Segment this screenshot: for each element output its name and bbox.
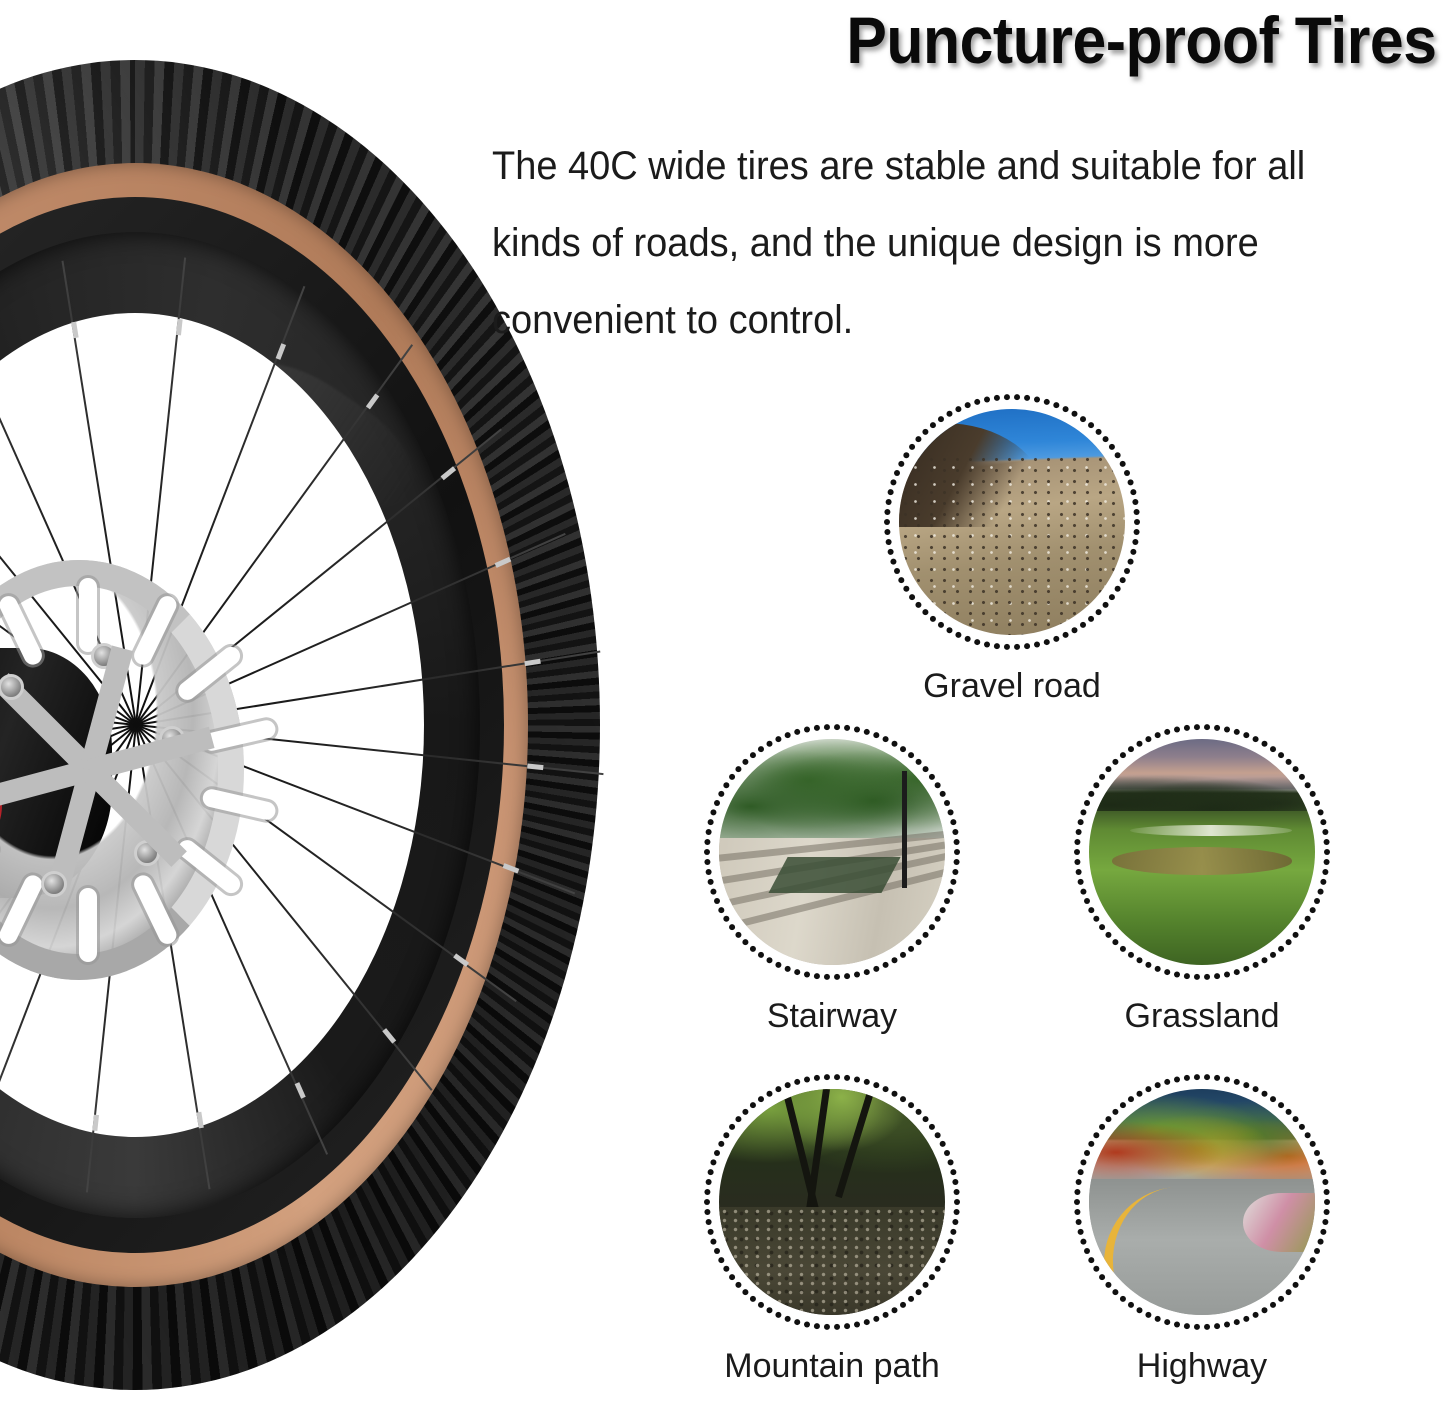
ring-dot — [735, 1282, 741, 1288]
ring-dot — [864, 729, 870, 735]
ring-dot — [984, 641, 990, 647]
ring-dot — [1324, 1209, 1330, 1215]
terrain-callout-gravel-road: Gravel road — [883, 393, 1141, 706]
ring-dot — [1044, 639, 1050, 645]
ring-dot — [947, 627, 953, 633]
ring-dot — [1072, 627, 1078, 633]
ring-dot — [767, 957, 773, 963]
spoke-nipple — [92, 1115, 99, 1131]
ring-dot — [1324, 849, 1330, 855]
wheel-hub-assembly — [0, 560, 368, 980]
ring-dot — [1155, 1082, 1161, 1088]
ring-dot — [944, 800, 950, 806]
ring-dot — [1174, 1077, 1180, 1083]
ring-dot — [1214, 725, 1220, 731]
ring-dot — [1093, 1266, 1099, 1272]
rotor-vent-slot — [79, 888, 97, 962]
ring-dot — [1088, 791, 1094, 797]
ring-dot — [1137, 1307, 1143, 1313]
ring-dot — [1155, 966, 1161, 972]
ring-dot — [1293, 1116, 1299, 1122]
ring-dot — [1124, 568, 1130, 574]
ring-dot — [909, 594, 915, 600]
ring-dot — [1088, 616, 1094, 622]
ring-dot — [1099, 924, 1105, 930]
ring-dot — [1184, 1075, 1190, 1081]
ring-dot — [704, 1189, 710, 1195]
ring-dot — [1322, 869, 1328, 875]
ring-dot — [1305, 1266, 1311, 1272]
ring-dot — [954, 1209, 960, 1215]
ring-dot — [706, 829, 712, 835]
ring-dot — [708, 1229, 714, 1235]
ring-dot — [1164, 729, 1170, 735]
ring-dot — [824, 1074, 830, 1080]
ring-dot — [1293, 932, 1299, 938]
ring-dot — [1088, 1257, 1094, 1263]
ring-dot — [1310, 791, 1316, 797]
ring-dot — [1093, 1132, 1099, 1138]
spoke-nipple — [295, 1082, 306, 1099]
ring-dot — [704, 1209, 710, 1215]
ring-dot — [844, 1323, 850, 1329]
ring-dot — [892, 1307, 898, 1313]
ring-dot — [1184, 973, 1190, 979]
ring-dot — [1004, 644, 1010, 650]
ring-dot — [1204, 724, 1210, 730]
ring-dot — [1145, 962, 1151, 968]
ring-dot — [1078, 879, 1084, 885]
ring-dot — [1214, 973, 1220, 979]
ring-dot — [1310, 1257, 1316, 1263]
ring-dot — [886, 539, 892, 545]
ring-dot — [714, 1248, 720, 1254]
ring-dot — [935, 1266, 941, 1272]
ring-dot — [930, 616, 936, 622]
ring-dot — [723, 1132, 729, 1138]
ring-dot — [704, 859, 710, 865]
ring-dot — [1074, 859, 1080, 865]
ring-dot — [884, 509, 890, 515]
ring-dot — [1109, 594, 1115, 600]
ring-dot — [1063, 406, 1069, 412]
rotor-bolt — [0, 674, 24, 700]
ring-dot — [718, 1141, 724, 1147]
ring-dot — [1130, 549, 1136, 555]
ring-dot — [1270, 1302, 1276, 1308]
ring-dot — [706, 869, 712, 875]
ring-dot — [915, 602, 921, 608]
ring-dot — [706, 1219, 712, 1225]
ring-dot — [1262, 957, 1268, 963]
rotor-vent-slot — [79, 578, 97, 652]
ring-dot — [742, 1289, 748, 1295]
ring-dot — [930, 422, 936, 428]
ring-dot — [1234, 1319, 1240, 1325]
ring-dot — [898, 461, 904, 467]
ring-dot — [994, 395, 1000, 401]
ring-dot — [794, 1319, 800, 1325]
ring-dot — [952, 869, 958, 875]
ring-dot — [824, 1324, 830, 1330]
ring-dot — [785, 732, 791, 738]
ring-dot — [950, 879, 956, 885]
ring-dot — [952, 829, 958, 835]
ring-dot — [900, 952, 906, 958]
ring-dot — [706, 1179, 712, 1185]
ring-dot — [1253, 736, 1259, 742]
ring-dot — [1253, 1086, 1259, 1092]
ring-dot — [1099, 774, 1105, 780]
ring-dot — [1322, 829, 1328, 835]
ring-dot — [708, 1169, 714, 1175]
ring-dot — [1299, 774, 1305, 780]
ring-dot — [1130, 489, 1136, 495]
dotted-ring — [703, 723, 961, 981]
ring-dot — [1099, 1274, 1105, 1280]
ring-dot — [1115, 586, 1121, 592]
ring-dot — [1322, 1179, 1328, 1185]
ring-dot — [908, 1102, 914, 1108]
ring-dot — [1137, 957, 1143, 963]
ring-dot — [1243, 1082, 1249, 1088]
ring-dot — [1293, 1282, 1299, 1288]
infographic-page: Puncture-proof Tires The 40C wide tires … — [0, 0, 1445, 1416]
terrain-callout-stairway: Stairway — [703, 723, 961, 1036]
spoke-nipple — [366, 393, 379, 409]
ring-dot — [948, 889, 954, 895]
ring-dot — [718, 907, 724, 913]
ring-dot — [935, 782, 941, 788]
ring-dot — [900, 1302, 906, 1308]
ring-dot — [785, 966, 791, 972]
ring-dot — [955, 406, 961, 412]
ring-dot — [758, 952, 764, 958]
ring-dot — [750, 1102, 756, 1108]
ring-dot — [873, 1316, 879, 1322]
ring-dot — [1093, 782, 1099, 788]
ring-dot — [916, 1109, 922, 1115]
ring-dot — [929, 774, 935, 780]
ring-dot — [1120, 752, 1126, 758]
ring-dot — [1088, 907, 1094, 913]
ring-dot — [954, 1189, 960, 1195]
ring-dot — [775, 1312, 781, 1318]
ring-dot — [1278, 946, 1284, 952]
ring-dot — [894, 470, 900, 476]
ring-dot — [1270, 746, 1276, 752]
terrain-photo-grassland — [1089, 739, 1315, 965]
ring-dot — [735, 932, 741, 938]
rotor-bolt — [41, 871, 67, 897]
dotted-ring — [703, 1073, 961, 1331]
ring-dot — [1318, 889, 1324, 895]
ring-dot — [767, 1091, 773, 1097]
terrain-label: Mountain path — [703, 1347, 961, 1386]
ring-dot — [1314, 800, 1320, 806]
ring-dot — [804, 1077, 810, 1083]
ring-dot — [1224, 727, 1230, 733]
ring-dot — [940, 791, 946, 797]
ring-dot — [1214, 1323, 1220, 1329]
ring-dot — [1080, 889, 1086, 895]
ring-dot — [1305, 1132, 1311, 1138]
ring-dot — [729, 1124, 735, 1130]
ring-dot — [1278, 1296, 1284, 1302]
ring-dot — [750, 752, 756, 758]
ring-dot — [916, 939, 922, 945]
ring-dot — [1145, 736, 1151, 742]
terrain-label: Gravel road — [883, 667, 1141, 706]
ring-dot — [742, 1109, 748, 1115]
ring-dot — [965, 402, 971, 408]
ring-dot — [758, 1096, 764, 1102]
ring-dot — [974, 639, 980, 645]
ring-dot — [929, 1124, 935, 1130]
ring-dot — [1115, 452, 1121, 458]
ring-dot — [710, 1239, 716, 1245]
ring-dot — [1132, 499, 1138, 505]
ring-dot — [1096, 429, 1102, 435]
ring-dot — [854, 727, 860, 733]
ring-dot — [1204, 1324, 1210, 1330]
ring-dot — [1074, 839, 1080, 845]
ring-dot — [984, 397, 990, 403]
ring-dot — [900, 1096, 906, 1102]
ring-dot — [915, 436, 921, 442]
ring-dot — [1088, 422, 1094, 428]
ring-dot — [948, 809, 954, 815]
ring-dot — [909, 444, 915, 450]
ring-dot — [944, 1248, 950, 1254]
ring-dot — [729, 924, 735, 930]
ring-dot — [994, 643, 1000, 649]
ring-dot — [1320, 879, 1326, 885]
ring-dot — [1314, 898, 1320, 904]
ring-dot — [1053, 402, 1059, 408]
ring-dot — [873, 732, 879, 738]
ring-dot — [1124, 470, 1130, 476]
ring-dot — [1174, 971, 1180, 977]
ring-dot — [1134, 519, 1140, 525]
ring-dot — [1078, 1169, 1084, 1175]
ring-dot — [1112, 759, 1118, 765]
ring-dot — [908, 752, 914, 758]
ring-dot — [886, 499, 892, 505]
ring-dot — [864, 969, 870, 975]
ring-dot — [1120, 1296, 1126, 1302]
terrain-photo-highway — [1089, 1089, 1315, 1315]
ring-dot — [1074, 1209, 1080, 1215]
ring-dot — [898, 577, 904, 583]
ring-dot — [894, 568, 900, 574]
ring-dot — [742, 939, 748, 945]
ring-dot — [758, 1302, 764, 1308]
ring-dot — [1128, 1096, 1134, 1102]
ring-dot — [1224, 971, 1230, 977]
ring-dot — [723, 782, 729, 788]
ring-dot — [814, 973, 820, 979]
ring-dot — [723, 916, 729, 922]
ring-dot — [834, 724, 840, 730]
ring-dot — [750, 946, 756, 952]
ring-dot — [718, 791, 724, 797]
ring-dot — [704, 849, 710, 855]
ring-dot — [735, 766, 741, 772]
ring-dot — [940, 907, 946, 913]
ring-dot — [1072, 411, 1078, 417]
ring-dot — [1314, 1248, 1320, 1254]
ring-dot — [1184, 1323, 1190, 1329]
ring-dot — [916, 759, 922, 765]
ring-dot — [1128, 479, 1134, 485]
ring-dot — [1299, 1274, 1305, 1280]
ring-dot — [1270, 1096, 1276, 1102]
description-paragraph: The 40C wide tires are stable and suitab… — [492, 128, 1395, 360]
ring-dot — [940, 1141, 946, 1147]
ring-dot — [950, 819, 956, 825]
ring-dot — [1084, 898, 1090, 904]
ring-dot — [710, 889, 716, 895]
ring-dot — [1262, 1307, 1268, 1313]
ring-dot — [884, 519, 890, 525]
ring-dot — [767, 741, 773, 747]
ring-dot — [1014, 394, 1020, 400]
ring-dot — [1080, 809, 1086, 815]
ring-dot — [935, 916, 941, 922]
ring-dot — [1105, 1116, 1111, 1122]
ring-dot — [1324, 859, 1330, 865]
ring-dot — [794, 969, 800, 975]
ring-dot — [710, 1159, 716, 1165]
ring-dot — [1053, 636, 1059, 642]
ring-dot — [1128, 1302, 1134, 1308]
ring-dot — [854, 1321, 860, 1327]
ring-dot — [900, 746, 906, 752]
ring-dot — [1164, 1079, 1170, 1085]
ring-dot — [1074, 849, 1080, 855]
ring-dot — [1112, 939, 1118, 945]
ring-dot — [1299, 924, 1305, 930]
ring-dot — [908, 946, 914, 952]
ring-dot — [923, 1282, 929, 1288]
ring-dot — [1293, 766, 1299, 772]
spoke-nipple — [176, 319, 183, 335]
ring-dot — [814, 725, 820, 731]
ring-dot — [1137, 1091, 1143, 1097]
ring-dot — [954, 1199, 960, 1205]
ring-dot — [785, 1316, 791, 1322]
ring-dot — [1164, 969, 1170, 975]
ring-dot — [854, 1077, 860, 1083]
ring-dot — [1084, 1150, 1090, 1156]
spoke-nipple — [196, 1112, 203, 1129]
ring-dot — [1310, 907, 1316, 913]
ring-dot — [1120, 946, 1126, 952]
ring-dot — [923, 766, 929, 772]
ring-dot — [1145, 1312, 1151, 1318]
ring-dot — [1164, 1319, 1170, 1325]
ring-dot — [1278, 1102, 1284, 1108]
dotted-ring — [1073, 723, 1331, 981]
ring-dot — [1074, 1199, 1080, 1205]
ring-dot — [1174, 727, 1180, 733]
ring-dot — [834, 1074, 840, 1080]
ring-dot — [884, 529, 890, 535]
ring-dot — [1286, 1109, 1292, 1115]
ring-dot — [955, 632, 961, 638]
ring-dot — [1262, 1091, 1268, 1097]
ring-dot — [1080, 416, 1086, 422]
ring-dot — [1109, 444, 1115, 450]
ring-dot — [1320, 1169, 1326, 1175]
ring-dot — [864, 1079, 870, 1085]
ring-dot — [923, 1116, 929, 1122]
ring-dot — [1270, 952, 1276, 958]
ring-dot — [1103, 602, 1109, 608]
ring-dot — [890, 559, 896, 565]
ring-dot — [1243, 966, 1249, 972]
ring-dot — [1318, 1239, 1324, 1245]
ring-dot — [1155, 732, 1161, 738]
ring-dot — [775, 736, 781, 742]
ring-dot — [1322, 1219, 1328, 1225]
terrain-label: Highway — [1073, 1347, 1331, 1386]
ring-dot — [954, 849, 960, 855]
ring-dot — [834, 974, 840, 980]
ring-dot — [1024, 395, 1030, 401]
ring-dot — [824, 724, 830, 730]
ring-dot — [1128, 559, 1134, 565]
ring-dot — [922, 609, 928, 615]
ring-dot — [718, 1257, 724, 1263]
ring-dot — [1078, 1229, 1084, 1235]
ring-dot — [952, 1179, 958, 1185]
ring-dot — [735, 1116, 741, 1122]
ring-dot — [1286, 1289, 1292, 1295]
ring-dot — [1076, 1219, 1082, 1225]
ring-dot — [1034, 397, 1040, 403]
ring-dot — [1105, 932, 1111, 938]
ring-dot — [804, 727, 810, 733]
ring-dot — [844, 1075, 850, 1081]
ring-dot — [1194, 1324, 1200, 1330]
ring-dot — [1286, 939, 1292, 945]
ring-dot — [883, 736, 889, 742]
ring-dot — [1074, 1189, 1080, 1195]
ring-dot — [834, 1324, 840, 1330]
ring-dot — [1214, 1075, 1220, 1081]
ring-dot — [873, 966, 879, 972]
ring-dot — [890, 479, 896, 485]
ring-dot — [947, 411, 953, 417]
ring-dot — [1014, 644, 1020, 650]
ring-dot — [704, 1199, 710, 1205]
spoke-nipple — [382, 1028, 396, 1044]
ring-dot — [723, 1266, 729, 1272]
ring-dot — [938, 416, 944, 422]
terrain-photo-stairway — [719, 739, 945, 965]
ring-dot — [1234, 729, 1240, 735]
ring-dot — [785, 1082, 791, 1088]
spoke-nipple — [71, 322, 78, 339]
ring-dot — [1076, 869, 1082, 875]
ring-dot — [935, 1132, 941, 1138]
ring-dot — [708, 819, 714, 825]
ring-dot — [892, 1091, 898, 1097]
ring-dot — [824, 974, 830, 980]
ring-dot — [1314, 1150, 1320, 1156]
